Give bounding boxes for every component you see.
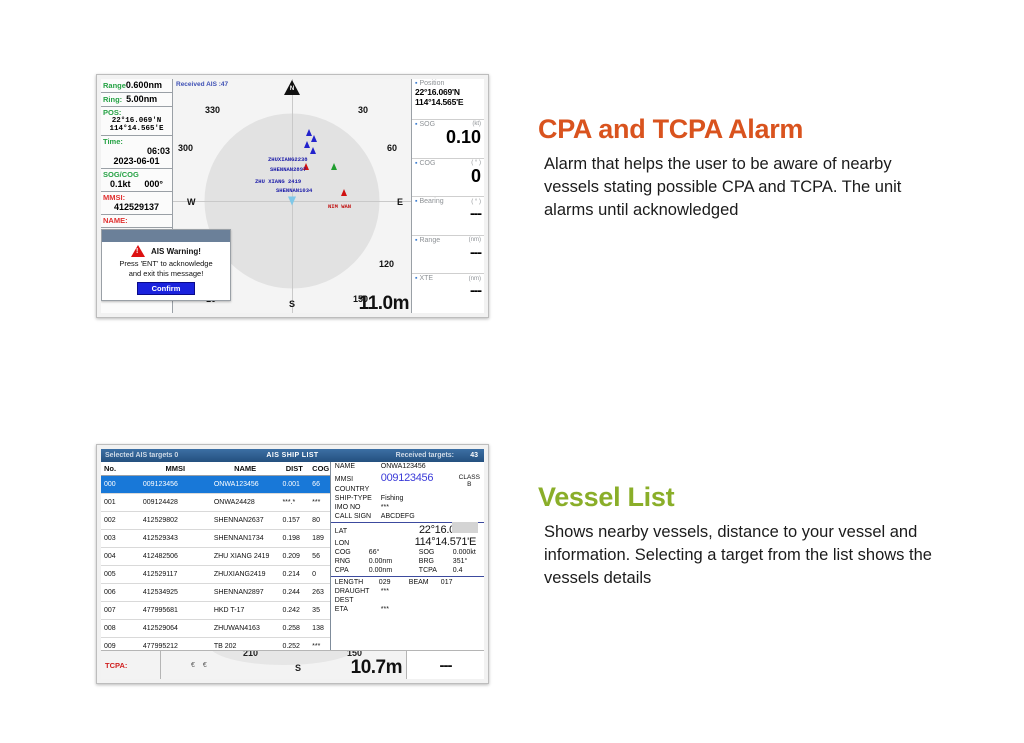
- detail-length-value: 029: [379, 579, 409, 586]
- ring-value: 5.00nm: [126, 94, 157, 104]
- ais-ship-list-screenshot: Selected AIS targets 0 AIS SHIP LIST Rec…: [96, 444, 489, 684]
- cell-mmsi: 412529064: [140, 623, 211, 634]
- cell-dist: ***.*: [279, 497, 309, 508]
- detail-lat-label: LAT: [335, 528, 361, 535]
- detail-tcpa-label: TCPA: [419, 567, 453, 574]
- cardinal-south: S: [289, 299, 295, 309]
- cell-mmsi: 477995681: [140, 605, 211, 616]
- warning-triangle-icon: [131, 245, 145, 257]
- received-targets-label: Received targets:: [396, 452, 454, 459]
- table-rows-container: 000009123456ONWA1234560.0016600100912442…: [101, 476, 330, 656]
- detail-shiptype-row: SHIP-TYPE Fishing: [331, 494, 484, 503]
- xte-label: XTE: [419, 275, 433, 282]
- position-row: POS: 22°16.069'N 114°14.565'E: [101, 107, 172, 136]
- position-label: Position: [419, 80, 444, 87]
- detail-name-row: NAME ONWA123456: [331, 462, 484, 471]
- cell-mmsi: 412534925: [140, 587, 211, 598]
- table-row[interactable]: 000009123456ONWA1234560.00166: [101, 476, 330, 494]
- cell-cog: 138: [309, 623, 330, 634]
- bearing-60: 60: [387, 143, 397, 153]
- detail-eta-value: ***: [381, 606, 389, 613]
- detail-imo-value: ***: [381, 504, 389, 511]
- pos-lon: 114°14.565'E: [103, 125, 170, 133]
- chartplotter-screenshot: Range 0.600nm Ring: 5.00nm POS: 22°16.06…: [96, 74, 489, 318]
- shiplist-titlebar: Selected AIS targets 0 AIS SHIP LIST Rec…: [101, 449, 484, 462]
- pos-lat: 22°16.069'N: [103, 117, 170, 125]
- class-badge: CLASS B: [459, 474, 480, 488]
- cell-cog: 189: [309, 533, 330, 544]
- cell-name: ONWA123456: [211, 479, 280, 490]
- sog-cog-row: SOG/COG 0.1kt 000°: [101, 169, 172, 192]
- shiplist-screen: Selected AIS targets 0 AIS SHIP LIST Rec…: [101, 449, 484, 679]
- range-label: Range: [103, 81, 126, 90]
- position-lon: 114°14.565'E: [415, 97, 481, 107]
- rose-ghost: [209, 651, 359, 665]
- detail-length-label: LENGTH: [335, 579, 379, 586]
- range-unit: (nm): [469, 237, 481, 243]
- detail-rng-value: 0.00nm: [369, 558, 419, 565]
- detail-draught-value: ***: [381, 588, 389, 595]
- tcpa-label-cell: TCPA:: [101, 651, 161, 679]
- shiplist-title: AIS SHIP LIST: [266, 452, 318, 459]
- mmsi-row: MMSI: 412529137: [101, 192, 172, 215]
- vessel-table[interactable]: No. MMSI NAME DIST COG 000009123456ONWA1…: [101, 462, 331, 651]
- detail-imo-row: IMO NO ***: [331, 503, 484, 512]
- name-row: NAME:: [101, 215, 172, 228]
- detail-mmsi-label: MMSI: [335, 476, 381, 483]
- depth-readout-2: 10.7m: [351, 657, 402, 679]
- cell-name: SHENNAN1734: [211, 533, 280, 544]
- cell-cog: ***: [309, 497, 330, 508]
- bearing-unit: ( ° ): [471, 199, 481, 205]
- cell-cog: 66: [309, 479, 330, 490]
- column-header-cog: COG: [309, 462, 330, 475]
- dialog-body: AIS Warning! Press 'ENT' to acknowledge …: [102, 242, 230, 300]
- callout-vessel-heading: Vessel List: [538, 482, 949, 513]
- detail-eta-row: ETA ***: [331, 605, 484, 614]
- range-label2: Range: [419, 237, 440, 244]
- cell-dist: 0.258: [279, 623, 309, 634]
- ghost-bearing-210: 210: [243, 651, 258, 658]
- detail-beam-value: 017: [441, 579, 484, 586]
- detail-cpa-value: 0.00nm: [369, 567, 419, 574]
- cell-no: 006: [101, 587, 140, 598]
- column-header-no: No.: [101, 462, 140, 475]
- range-row: Range 0.600nm: [101, 79, 172, 93]
- cell-name: ZHUXIANG2419: [211, 569, 280, 580]
- data-cell-range: ▪Range(nm) ---: [412, 236, 484, 275]
- shiplist-bottom-bar: TCPA: 210 150 S €€ 10.7m ---: [101, 650, 484, 679]
- sog-value: 0.1kt: [110, 179, 131, 189]
- detail-name-value: ONWA123456: [381, 463, 426, 470]
- cell-name: HKD T-17: [211, 605, 280, 616]
- detail-dest-row: DEST: [331, 596, 484, 605]
- sogcog-label: SOG/COG: [103, 170, 170, 179]
- cell-cog: 35: [309, 605, 330, 616]
- shiplist-body: No. MMSI NAME DIST COG 000009123456ONWA1…: [101, 462, 484, 651]
- bearing-label: Bearing: [419, 198, 443, 205]
- cell-cog: 80: [309, 515, 330, 526]
- ring-row: Ring: 5.00nm: [101, 93, 172, 107]
- cell-name: ZHU XIANG 2419: [211, 551, 280, 562]
- detail-mmsi-value: 009123456: [381, 472, 433, 484]
- cardinal-east: E: [397, 197, 403, 207]
- confirm-button[interactable]: Confirm: [137, 282, 196, 295]
- data-cell-position: ▪Position 22°16.069'N 114°14.565'E: [412, 79, 484, 120]
- cell-no: 008: [101, 623, 140, 634]
- cell-no: 007: [101, 605, 140, 616]
- detail-callsign-row: CALL SIGN ABCDEFG: [331, 512, 484, 521]
- detail-brg-value: 351°: [453, 558, 484, 565]
- class-label: CLASS: [459, 474, 480, 481]
- pos-label: POS:: [103, 108, 170, 117]
- table-row[interactable]: 006412534925SHENNAN28970.244263: [101, 584, 330, 602]
- detail-brg-label: BRG: [419, 558, 453, 565]
- ghost-cardinal-south: S: [295, 663, 301, 673]
- table-row[interactable]: 005412529117ZHUXIANG24190.2140: [101, 566, 330, 584]
- class-value: B: [459, 481, 480, 488]
- bullet-icon: ▪: [415, 121, 417, 128]
- callout-cpa-body: Alarm that helps the user to be aware of…: [544, 153, 949, 221]
- cell-dist: 0.209: [279, 551, 309, 562]
- callout-vessel-body: Shows nearby vessels, distance to your v…: [544, 521, 949, 589]
- ais-target-marker[interactable]: [311, 135, 317, 142]
- cell-cog: 56: [309, 551, 330, 562]
- sog-label: SOG: [419, 121, 435, 128]
- detail-beam-label: BEAM: [409, 579, 441, 586]
- cell-name: SHENNAN2637: [211, 515, 280, 526]
- detail-draught-row: DRAUGHT ***: [331, 587, 484, 596]
- cell-no: 003: [101, 533, 140, 544]
- table-header-row: No. MMSI NAME DIST COG: [101, 462, 330, 476]
- detail-name-label: NAME: [335, 463, 381, 470]
- target-label-shennan2897: SHENNAN2897: [270, 166, 306, 173]
- name-label: NAME:: [103, 216, 170, 225]
- received-ais-count: Received AIS :47: [176, 81, 228, 88]
- detail-imo-label: IMO NO: [335, 504, 381, 511]
- cell-dist: 0.001: [279, 479, 309, 490]
- table-row[interactable]: 002412529802SHENNAN26370.15780: [101, 512, 330, 530]
- detail-country-label: COUNTRY: [335, 486, 381, 493]
- cell-cog: 0: [309, 569, 330, 580]
- dialog-titlebar: [102, 230, 230, 242]
- data-cell-cog: ▪COG( ° ) 0: [412, 159, 484, 198]
- plotter-screen: Range 0.600nm Ring: 5.00nm POS: 22°16.06…: [101, 79, 484, 313]
- target-label-zhuxiang2238: ZHUXIANG2238: [268, 156, 308, 163]
- bottom-right-value: ---: [406, 651, 484, 679]
- cell-mmsi: 009124428: [140, 497, 211, 508]
- cog-label: COG: [419, 160, 435, 167]
- date-value: 2023-06-01: [103, 156, 170, 166]
- selected-targets-label: Selected AIS targets 0: [105, 452, 178, 459]
- cell-no: 000: [101, 479, 140, 490]
- detail-eta-label: ETA: [335, 606, 381, 613]
- cell-mmsi: 009123456: [140, 479, 211, 490]
- data-cell-bearing: ▪Bearing( ° ) ---: [412, 197, 484, 236]
- plotter-right-data-panel: ▪Position 22°16.069'N 114°14.565'E ▪SOG(…: [411, 79, 484, 313]
- column-header-mmsi: MMSI: [140, 462, 211, 475]
- detail-callsign-label: CALL SIGN: [335, 513, 381, 520]
- column-header-dist: DIST: [279, 462, 309, 475]
- data-cell-sog: ▪SOG(kt) 0.10: [412, 120, 484, 159]
- time-row: Time: 06:03 2023-06-01: [101, 136, 172, 169]
- sog-readout: 0.10: [415, 128, 481, 146]
- bullet-icon: ▪: [415, 160, 417, 167]
- detail-shiptype-value: Fishing: [381, 495, 404, 502]
- bearing-300: 300: [178, 143, 193, 153]
- cell-no: 005: [101, 569, 140, 580]
- detail-lon-row: LON 114°14.571'E: [331, 536, 484, 548]
- cell-name: ONWA24428: [211, 497, 280, 508]
- detail-lon-label: LON: [335, 540, 361, 547]
- bullet-icon: ▪: [415, 237, 417, 244]
- cell-dist: 0.157: [279, 515, 309, 526]
- xte-unit: (nm): [469, 276, 481, 282]
- detail-cpa-tcpa-row: CPA 0.00nm TCPA 0.4: [331, 566, 484, 575]
- cell-no: 002: [101, 515, 140, 526]
- column-header-name: NAME: [211, 462, 280, 475]
- dialog-message-line1: Press 'ENT' to acknowledge: [106, 259, 226, 268]
- cell-name: SHENNAN2897: [211, 587, 280, 598]
- table-row[interactable]: 001009124428ONWA24428***.****: [101, 494, 330, 512]
- cell-name: ZHUWAN4163: [211, 623, 280, 634]
- cell-dist: 0.198: [279, 533, 309, 544]
- time-label: Time:: [103, 137, 170, 146]
- cell-dist: 0.214: [279, 569, 309, 580]
- currency-glyphs: €€: [191, 662, 215, 669]
- cell-dist: 0.244: [279, 587, 309, 598]
- bullet-icon: ▪: [415, 275, 417, 282]
- bearing-readout: ---: [415, 205, 481, 221]
- flag-placeholder-icon: [452, 522, 478, 533]
- cell-mmsi: 412529802: [140, 515, 211, 526]
- detail-lon-value: 114°14.571'E: [361, 536, 480, 548]
- target-label-nim-wan: NIM WAN: [328, 203, 351, 210]
- detail-draught-label: DRAUGHT: [335, 588, 381, 595]
- target-label-zhu-xiang-2419: ZHU XIANG 2419: [255, 178, 301, 185]
- detail-shiptype-label: SHIP-TYPE: [335, 495, 381, 502]
- callout-cpa-tcpa: CPA and TCPA Alarm Alarm that helps the …: [538, 114, 949, 221]
- cell-mmsi: 412482506: [140, 551, 211, 562]
- position-lat: 22°16.069'N: [415, 87, 481, 97]
- range-value: 0.600nm: [126, 80, 162, 90]
- table-row[interactable]: 007477995681HKD T-170.24235: [101, 602, 330, 620]
- ais-target-marker[interactable]: [341, 189, 347, 196]
- cell-no: 004: [101, 551, 140, 562]
- detail-cog-value: 66°: [369, 549, 419, 556]
- bearing-120: 120: [379, 259, 394, 269]
- own-ship-marker: [288, 196, 296, 205]
- cog-value: 000°: [144, 179, 163, 189]
- mmsi-value: 412529137: [103, 202, 170, 212]
- cell-no: 001: [101, 497, 140, 508]
- ring-label: Ring:: [103, 95, 122, 104]
- cell-mmsi: 412529117: [140, 569, 211, 580]
- detail-cog-sog-row: COG 66° SOG 0.000kt: [331, 548, 484, 557]
- cell-mmsi: 412529343: [140, 533, 211, 544]
- table-row[interactable]: 004412482506ZHU XIANG 24190.20956: [101, 548, 330, 566]
- detail-rng-label: RNG: [335, 558, 369, 565]
- detail-length-beam-row: LENGTH 029 BEAM 017: [331, 578, 484, 587]
- detail-sog-value: 0.000kt: [453, 549, 484, 556]
- dialog-message-line2: and exit this message!: [106, 269, 226, 278]
- cog-readout: 0: [415, 167, 481, 185]
- data-cell-xte: ▪XTE(nm) ---: [412, 274, 484, 313]
- cell-dist: 0.242: [279, 605, 309, 616]
- table-row[interactable]: 008412529064ZHUWAN41630.258138: [101, 620, 330, 638]
- range-readout: ---: [415, 244, 481, 260]
- callout-vessel-list: Vessel List Shows nearby vessels, distan…: [538, 482, 949, 589]
- cardinal-west: W: [187, 197, 196, 207]
- target-label-shennan1034: SHENNAN1034: [276, 187, 312, 194]
- vessel-detail-panel: NAME ONWA123456 MMSI 009123456 CLASS B C…: [331, 462, 484, 651]
- detail-cog-label: COG: [335, 549, 369, 556]
- detail-divider-2: [331, 576, 484, 577]
- table-row[interactable]: 003412529343SHENNAN17340.198189: [101, 530, 330, 548]
- detail-callsign-value: ABCDEFG: [381, 513, 415, 520]
- detail-rng-brg-row: RNG 0.00nm BRG 351°: [331, 557, 484, 566]
- bearing-30: 30: [358, 105, 368, 115]
- bearing-330: 330: [205, 105, 220, 115]
- north-label: N: [290, 86, 294, 92]
- dialog-title: AIS Warning!: [151, 247, 201, 256]
- bullet-icon: ▪: [415, 80, 417, 87]
- detail-dest-label: DEST: [335, 597, 381, 604]
- bottom-chart-strip: 210 150 S €€ 10.7m: [161, 651, 406, 679]
- ais-warning-dialog[interactable]: AIS Warning! Press 'ENT' to acknowledge …: [101, 229, 231, 301]
- depth-readout: 11.0m: [359, 293, 409, 313]
- cell-cog: 263: [309, 587, 330, 598]
- detail-tcpa-value: 0.4: [453, 567, 484, 574]
- detail-sog-label: SOG: [419, 549, 453, 556]
- slide-canvas: Range 0.600nm Ring: 5.00nm POS: 22°16.06…: [0, 0, 1024, 743]
- selected-targets-count: 0: [174, 452, 178, 459]
- bullet-icon: ▪: [415, 198, 417, 205]
- time-value: 06:03: [103, 146, 170, 156]
- xte-readout: ---: [415, 282, 481, 298]
- received-targets-count: 43: [470, 452, 478, 459]
- ais-target-marker[interactable]: [331, 163, 337, 170]
- detail-cpa-label: CPA: [335, 567, 369, 574]
- callout-cpa-heading: CPA and TCPA Alarm: [538, 114, 949, 145]
- mmsi-label: MMSI:: [103, 193, 170, 202]
- ais-target-marker[interactable]: [310, 147, 316, 154]
